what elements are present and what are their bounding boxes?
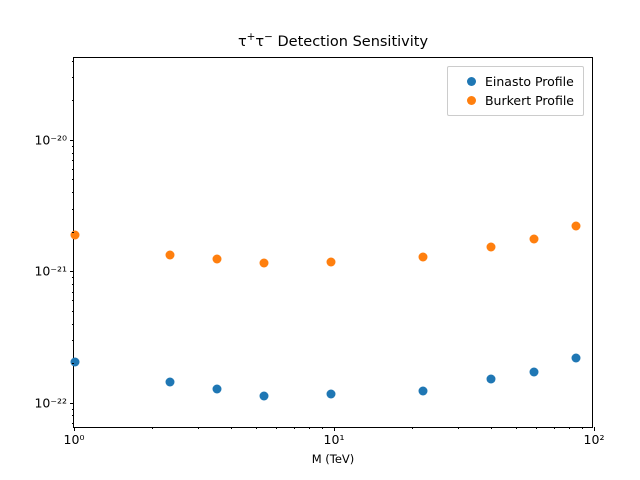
y-tick-label: 10⁻²¹ <box>34 264 67 279</box>
x-tick-major <box>594 427 595 431</box>
x-tick-major <box>334 427 335 431</box>
y-tick-minor <box>72 277 74 278</box>
data-point <box>486 243 495 252</box>
y-tick-minor <box>72 160 74 161</box>
data-point <box>530 367 539 376</box>
x-tick-label: 10¹ <box>324 432 345 447</box>
legend-marker-icon-burkert <box>467 96 476 105</box>
data-point <box>213 384 222 393</box>
data-point <box>166 250 175 259</box>
y-tick-minor <box>72 169 74 170</box>
y-tick-minor <box>72 209 74 210</box>
x-tick-minor <box>152 427 153 429</box>
x-tick-minor <box>309 427 310 429</box>
y-tick-minor <box>72 61 74 62</box>
data-point <box>486 375 495 384</box>
y-tick-minor <box>72 146 74 147</box>
x-tick-minor <box>412 427 413 429</box>
data-point <box>166 377 175 386</box>
y-tick-minor <box>72 409 74 410</box>
y-tick-minor <box>72 415 74 416</box>
data-point <box>260 392 269 401</box>
y-tick-major <box>70 403 74 404</box>
page-title: τ+τ− Detection Sensitivity <box>73 31 593 50</box>
plot-axes: 10⁻²⁰10⁻²¹10⁻²²10⁰10¹10² Einasto Profile… <box>73 57 593 428</box>
y-tick-major <box>70 271 74 272</box>
data-point <box>71 357 80 366</box>
y-tick-minor <box>72 77 74 78</box>
title-tau-minus: τ− <box>255 34 272 50</box>
x-tick-minor <box>554 427 555 429</box>
x-tick-minor <box>458 427 459 429</box>
legend-marker-icon-einasto <box>467 77 476 86</box>
y-tick-minor <box>72 153 74 154</box>
x-tick-minor <box>256 427 257 429</box>
legend-label-burkert: Burkert Profile <box>485 93 574 108</box>
x-axis-label: M (TeV) <box>73 452 593 466</box>
x-tick-minor <box>491 427 492 429</box>
data-point <box>530 234 539 243</box>
data-point <box>326 257 335 266</box>
y-tick-minor <box>72 179 74 180</box>
figure-canvas: τ+τ− Detection Sensitivity 10⁻²⁰10⁻²¹10⁻… <box>0 0 640 480</box>
data-point <box>419 387 428 396</box>
y-tick-major <box>70 140 74 141</box>
y-tick-minor <box>72 192 74 193</box>
x-tick-minor <box>276 427 277 429</box>
y-tick-minor <box>72 311 74 312</box>
y-tick-minor <box>72 363 74 364</box>
x-tick-major <box>74 427 75 431</box>
legend-label-einasto: Einasto Profile <box>485 74 574 89</box>
data-point <box>419 252 428 261</box>
chart-legend: Einasto Profile Burkert Profile <box>447 66 584 116</box>
y-tick-minor <box>72 300 74 301</box>
y-tick-minor <box>72 340 74 341</box>
x-tick-minor <box>322 427 323 429</box>
y-tick-minor <box>72 284 74 285</box>
x-tick-minor <box>198 427 199 429</box>
y-tick-label: 10⁻²² <box>34 395 67 410</box>
legend-item-burkert: Burkert Profile <box>455 91 574 110</box>
y-tick-minor <box>72 100 74 101</box>
y-tick-minor <box>72 324 74 325</box>
x-tick-minor <box>231 427 232 429</box>
y-tick-minor <box>72 292 74 293</box>
title-tau-plus: τ+ <box>238 34 255 50</box>
x-tick-minor <box>516 427 517 429</box>
title-rest: Detection Sensitivity <box>278 34 429 50</box>
data-point <box>571 353 580 362</box>
x-tick-label: 10⁰ <box>64 432 85 447</box>
data-point <box>326 390 335 399</box>
x-tick-minor <box>569 427 570 429</box>
x-tick-minor <box>582 427 583 429</box>
data-point <box>213 255 222 264</box>
y-tick-minor <box>72 423 74 424</box>
y-tick-minor <box>72 232 74 233</box>
x-tick-minor <box>536 427 537 429</box>
data-point <box>260 258 269 267</box>
x-tick-minor <box>294 427 295 429</box>
x-tick-label: 10² <box>584 432 605 447</box>
legend-item-einasto: Einasto Profile <box>455 72 574 91</box>
data-point <box>571 222 580 231</box>
y-tick-label: 10⁻²⁰ <box>34 132 67 147</box>
